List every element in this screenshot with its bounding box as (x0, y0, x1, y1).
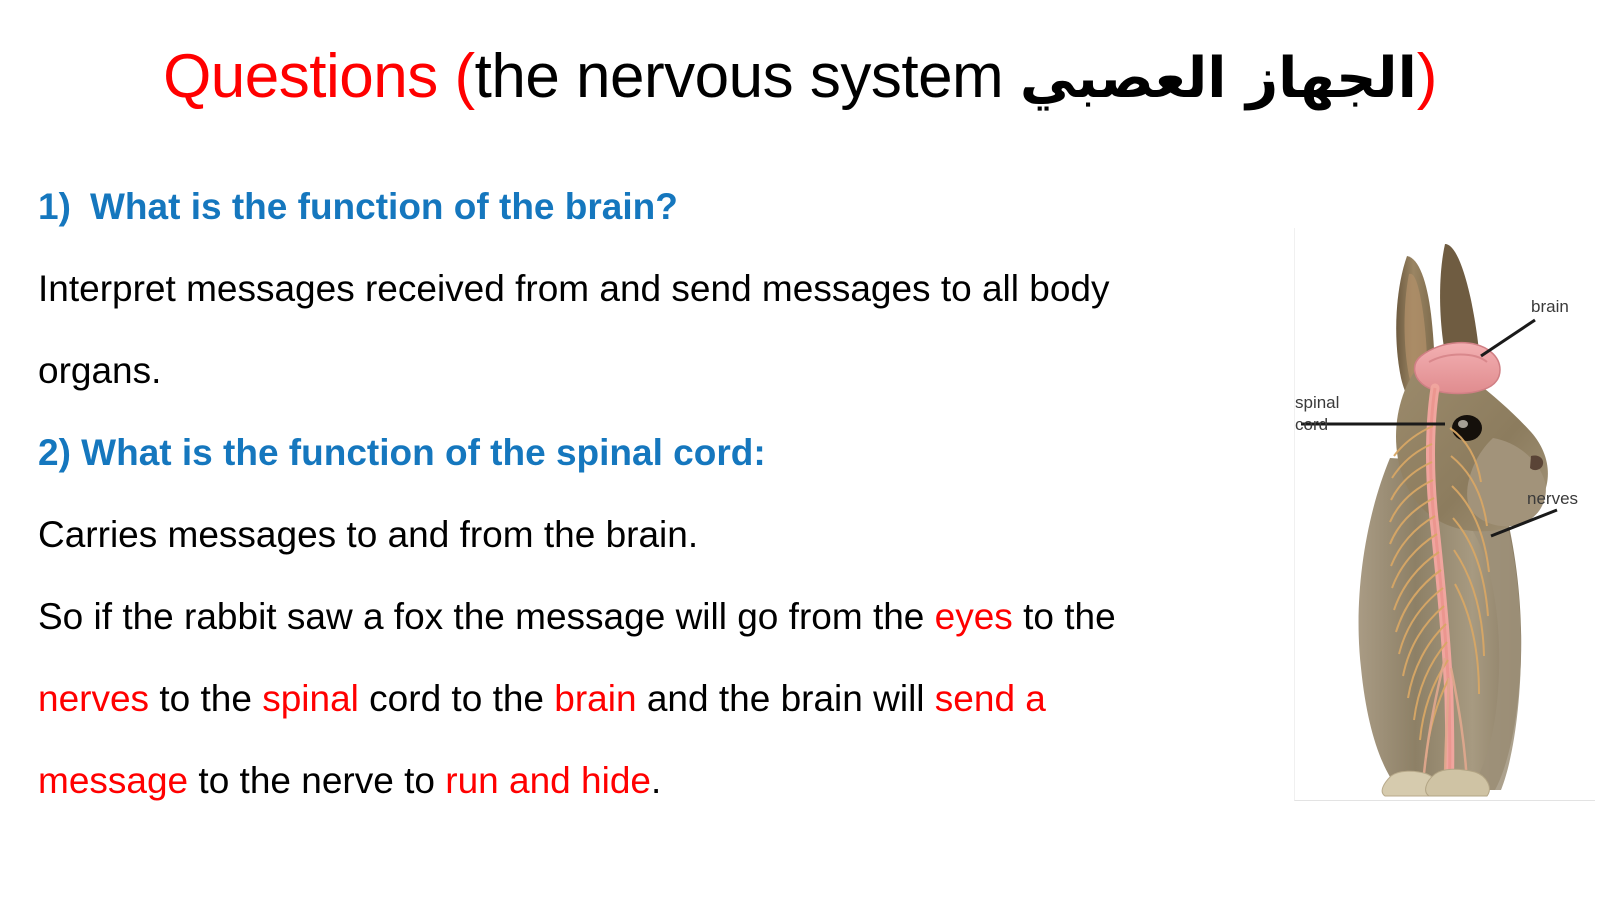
question-1-number: 1) (38, 166, 90, 248)
answer-2-line-1: Carries messages to and from the brain. (38, 494, 1278, 576)
answer-1-line-1: Interpret messages received from and sen… (38, 248, 1278, 330)
question-1-text: What is the function of the brain? (90, 186, 678, 227)
title-questions-text: Questions (163, 42, 454, 111)
figure-label-brain: brain (1531, 297, 1569, 316)
rabbit-nervous-system-image: brain spinal cord nerves (1294, 228, 1595, 801)
answer-1-line-2: organs. (38, 330, 1278, 412)
rabbit-eye (1452, 415, 1482, 441)
highlight-message: message (38, 760, 188, 801)
answer-2-line-2-part-b: to the (1013, 596, 1116, 637)
rabbit-eye-glint (1458, 420, 1468, 428)
figure-label-nerves: nerves (1527, 489, 1578, 508)
highlight-eyes: eyes (935, 596, 1013, 637)
answer-2-line-2-part-a: So if the rabbit saw a fox the message w… (38, 596, 935, 637)
page-title: Questions (the nervous system الجهاز الع… (0, 44, 1600, 109)
title-close-paren: ) (1417, 42, 1437, 111)
slide-canvas: Questions (the nervous system الجهاز الع… (0, 0, 1600, 900)
question-1: 1)What is the function of the brain? (38, 166, 1278, 248)
question-2: 2) What is the function of the spinal co… (38, 412, 1278, 494)
answer-2-line-3-part-c: and the brain will (637, 678, 935, 719)
title-english-text: the nervous system (475, 42, 1020, 111)
highlight-send-a: send a (935, 678, 1046, 719)
answer-2-line-4: message to the nerve to run and hide. (38, 740, 1278, 822)
answer-2-line-3-part-a: to the (149, 678, 262, 719)
answer-2-line-3-part-b: cord to the (359, 678, 554, 719)
title-arabic-text: الجهاز العصبي (1020, 46, 1417, 111)
title-open-paren: ( (454, 42, 474, 111)
answer-2-line-4-part-a: to the nerve to (188, 760, 445, 801)
figure-label-spinal-cord-line-1: spinal (1295, 393, 1339, 412)
answer-2-line-2: So if the rabbit saw a fox the message w… (38, 576, 1278, 658)
figure-label-spinal-cord-line-2: cord (1295, 415, 1328, 434)
highlight-brain: brain (554, 678, 636, 719)
rabbit-diagram-svg: brain spinal cord nerves (1295, 228, 1595, 798)
highlight-run-and-hide: run and hide (445, 760, 651, 801)
highlight-nerves: nerves (38, 678, 149, 719)
answer-2-line-4-period: . (651, 760, 661, 801)
slide-body-text: 1)What is the function of the brain? Int… (38, 166, 1278, 822)
brain-leader-line (1481, 320, 1535, 356)
answer-2-line-3: nerves to the spinal cord to the brain a… (38, 658, 1278, 740)
highlight-spinal: spinal (262, 678, 359, 719)
